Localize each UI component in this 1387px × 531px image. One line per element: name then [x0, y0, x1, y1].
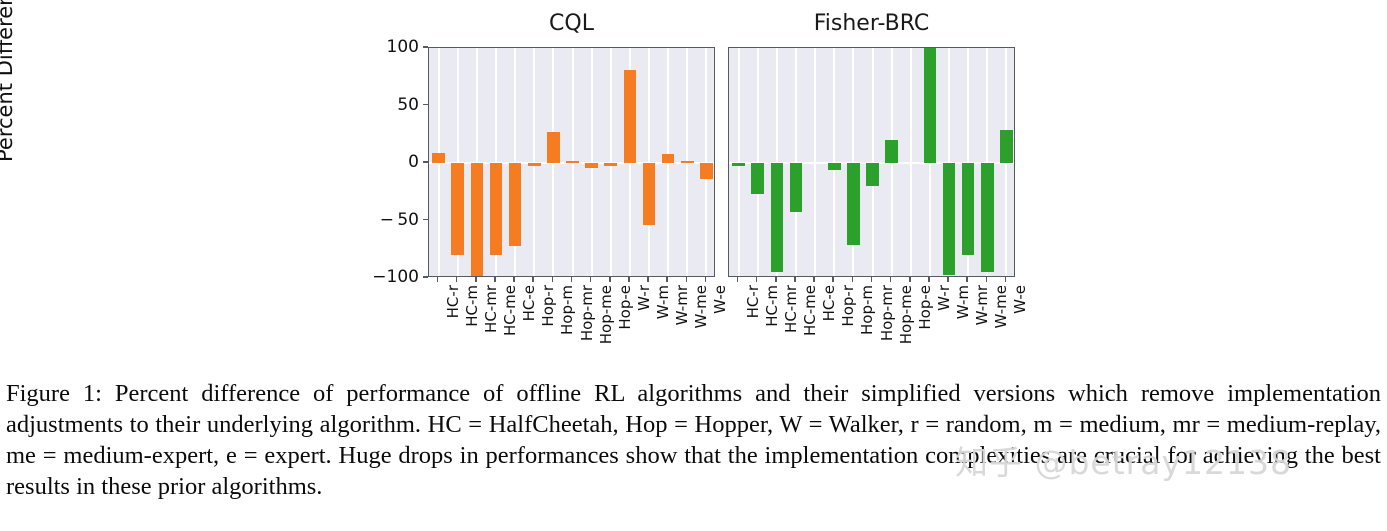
bar-fisher-brc-w-m: [943, 163, 956, 275]
x-tick-mark: [666, 277, 668, 282]
x-tick-mark: [890, 277, 892, 282]
x-tick-label-fisher-brc-w-me: W-me: [992, 285, 1010, 328]
y-tick-mark: [423, 276, 428, 278]
bar-cql-w-mr: [662, 154, 675, 163]
x-tick-mark: [947, 277, 949, 282]
x-tick-mark: [609, 277, 611, 282]
panel-title-cql: CQL: [428, 11, 715, 36]
bar-fisher-brc-w-mr: [962, 163, 975, 255]
bar-cql-w-me: [681, 161, 694, 163]
x-tick-label-cql-hop-r: Hop-r: [539, 285, 557, 327]
y-tick-label-neg50: − 50: [380, 210, 419, 230]
y-tick-mark: [423, 161, 428, 163]
x-tick-mark: [928, 277, 930, 282]
bar-cql-hop-e: [604, 163, 617, 166]
bar-cql-hop-r: [528, 163, 541, 166]
x-tick-mark: [571, 277, 573, 282]
y-tick-mark: [423, 104, 428, 106]
x-tick-mark: [986, 277, 988, 282]
x-tick-label-cql-hc-mr: HC-mr: [482, 285, 500, 333]
x-tick-label-cql-w-m: W-m: [654, 285, 672, 319]
bar-cql-w-e: [700, 163, 713, 179]
x-tick-mark: [832, 277, 834, 282]
x-tick-mark: [871, 277, 873, 282]
x-tick-mark: [532, 277, 534, 282]
bar-cql-hc-me: [490, 163, 503, 255]
x-tick-mark: [1005, 277, 1007, 282]
x-tick-label-fisher-brc-hc-m: HC-m: [763, 285, 781, 327]
x-tick-label-fisher-brc-hop-me: Hop-me: [897, 285, 915, 344]
bar-cql-hc-e: [509, 163, 522, 246]
x-tick-label-cql-hop-me: Hop-me: [597, 285, 615, 344]
x-tick-mark: [686, 277, 688, 282]
bar-cql-hop-mr: [566, 161, 579, 163]
x-tick-mark: [552, 277, 554, 282]
x-tick-mark: [590, 277, 592, 282]
x-tick-label-fisher-brc-w-mr: W-mr: [973, 285, 991, 325]
y-tick-mark: [423, 46, 428, 48]
x-tick-label-fisher-brc-w-m: W-m: [954, 285, 972, 319]
x-tick-mark: [813, 277, 815, 282]
x-tick-label-fisher-brc-hop-mr: Hop-mr: [878, 285, 896, 341]
x-tick-label-cql-hop-mr: Hop-mr: [578, 285, 596, 341]
x-tick-mark: [775, 277, 777, 282]
bar-fisher-brc-hop-r: [828, 163, 841, 170]
bar-fisher-brc-hop-m: [847, 163, 860, 245]
bar-cql-w-m: [643, 163, 656, 225]
x-tick-label-cql-hc-r: HC-r: [444, 285, 462, 318]
chart-panel-cql: CQL: [428, 47, 715, 277]
y-tick-label-0: 0: [408, 152, 419, 172]
bar-fisher-brc-hc-m: [751, 163, 764, 194]
y-tick-label-50: 50: [397, 95, 419, 115]
y-tick-mark: [423, 219, 428, 221]
bar-fisher-brc-hc-r: [732, 163, 745, 166]
bar-fisher-brc-w-r: [924, 48, 937, 163]
x-tick-label-cql-w-me: W-me: [692, 285, 710, 328]
x-tick-label-cql-hop-e: Hop-e: [616, 285, 634, 330]
x-tick-label-cql-w-e: W-e: [711, 285, 729, 314]
x-tick-label-fisher-brc-w-e: W-e: [1011, 285, 1029, 314]
bar-cql-hop-m: [547, 132, 560, 163]
x-tick-mark: [628, 277, 630, 282]
x-tick-mark: [756, 277, 758, 282]
x-tick-label-fisher-brc-hc-me: HC-me: [801, 285, 819, 336]
x-tick-label-fisher-brc-hc-mr: HC-mr: [782, 285, 800, 333]
x-tick-label-fisher-brc-hop-r: Hop-r: [839, 285, 857, 327]
bar-fisher-brc-hop-mr: [866, 163, 879, 186]
figure-region: Percent Difference CQL Fisher-BRC HC-rHC…: [0, 0, 1387, 360]
y-tick-label-100: 100: [387, 37, 419, 57]
x-tick-mark: [737, 277, 739, 282]
x-tick-label-cql-w-mr: W-mr: [673, 285, 691, 325]
x-tick-label-fisher-brc-hc-r: HC-r: [744, 285, 762, 318]
bar-cql-hc-m: [451, 163, 464, 255]
bar-cql-hop-me: [585, 163, 598, 168]
plot-area-fisher-brc: [728, 47, 1015, 277]
x-tick-mark: [966, 277, 968, 282]
x-tick-label-fisher-brc-w-r: W-r: [935, 285, 953, 311]
x-tick-label-fisher-brc-hop-e: Hop-e: [916, 285, 934, 330]
x-tick-mark: [909, 277, 911, 282]
y-tick-label-neg100: −100: [372, 267, 419, 287]
x-tick-mark: [705, 277, 707, 282]
bar-fisher-brc-hop-me: [885, 140, 898, 163]
plot-area-cql: [428, 47, 715, 277]
bar-fisher-brc-w-e: [1000, 130, 1013, 163]
x-tick-mark: [456, 277, 458, 282]
x-tick-mark: [437, 277, 439, 282]
panel-title-fisher-brc: Fisher-BRC: [728, 11, 1015, 36]
x-tick-mark: [513, 277, 515, 282]
chart-panel-fisher-brc: Fisher-BRC: [728, 47, 1015, 277]
bar-cql-hc-r: [432, 153, 445, 163]
y-axis-label: Percent Difference: [0, 0, 17, 162]
x-tick-mark: [494, 277, 496, 282]
bar-cql-w-r: [624, 70, 637, 163]
bar-fisher-brc-hc-mr: [771, 163, 784, 272]
bar-cql-hc-mr: [471, 163, 484, 277]
bar-fisher-brc-w-me: [981, 163, 994, 272]
x-tick-label-fisher-brc-hop-m: Hop-m: [858, 285, 876, 335]
x-tick-mark: [647, 277, 649, 282]
x-tick-mark: [475, 277, 477, 282]
x-tick-label-cql-w-r: W-r: [635, 285, 653, 311]
x-tick-mark: [794, 277, 796, 282]
x-tick-label-cql-hc-me: HC-me: [501, 285, 519, 336]
x-tick-label-fisher-brc-hc-e: HC-e: [820, 285, 838, 321]
x-tick-label-cql-hc-m: HC-m: [463, 285, 481, 327]
figure-caption: Figure 1: Percent difference of performa…: [6, 378, 1381, 502]
x-tick-label-cql-hc-e: HC-e: [520, 285, 538, 321]
bar-fisher-brc-hc-me: [790, 163, 803, 212]
x-tick-label-cql-hop-m: Hop-m: [558, 285, 576, 335]
x-tick-mark: [852, 277, 854, 282]
